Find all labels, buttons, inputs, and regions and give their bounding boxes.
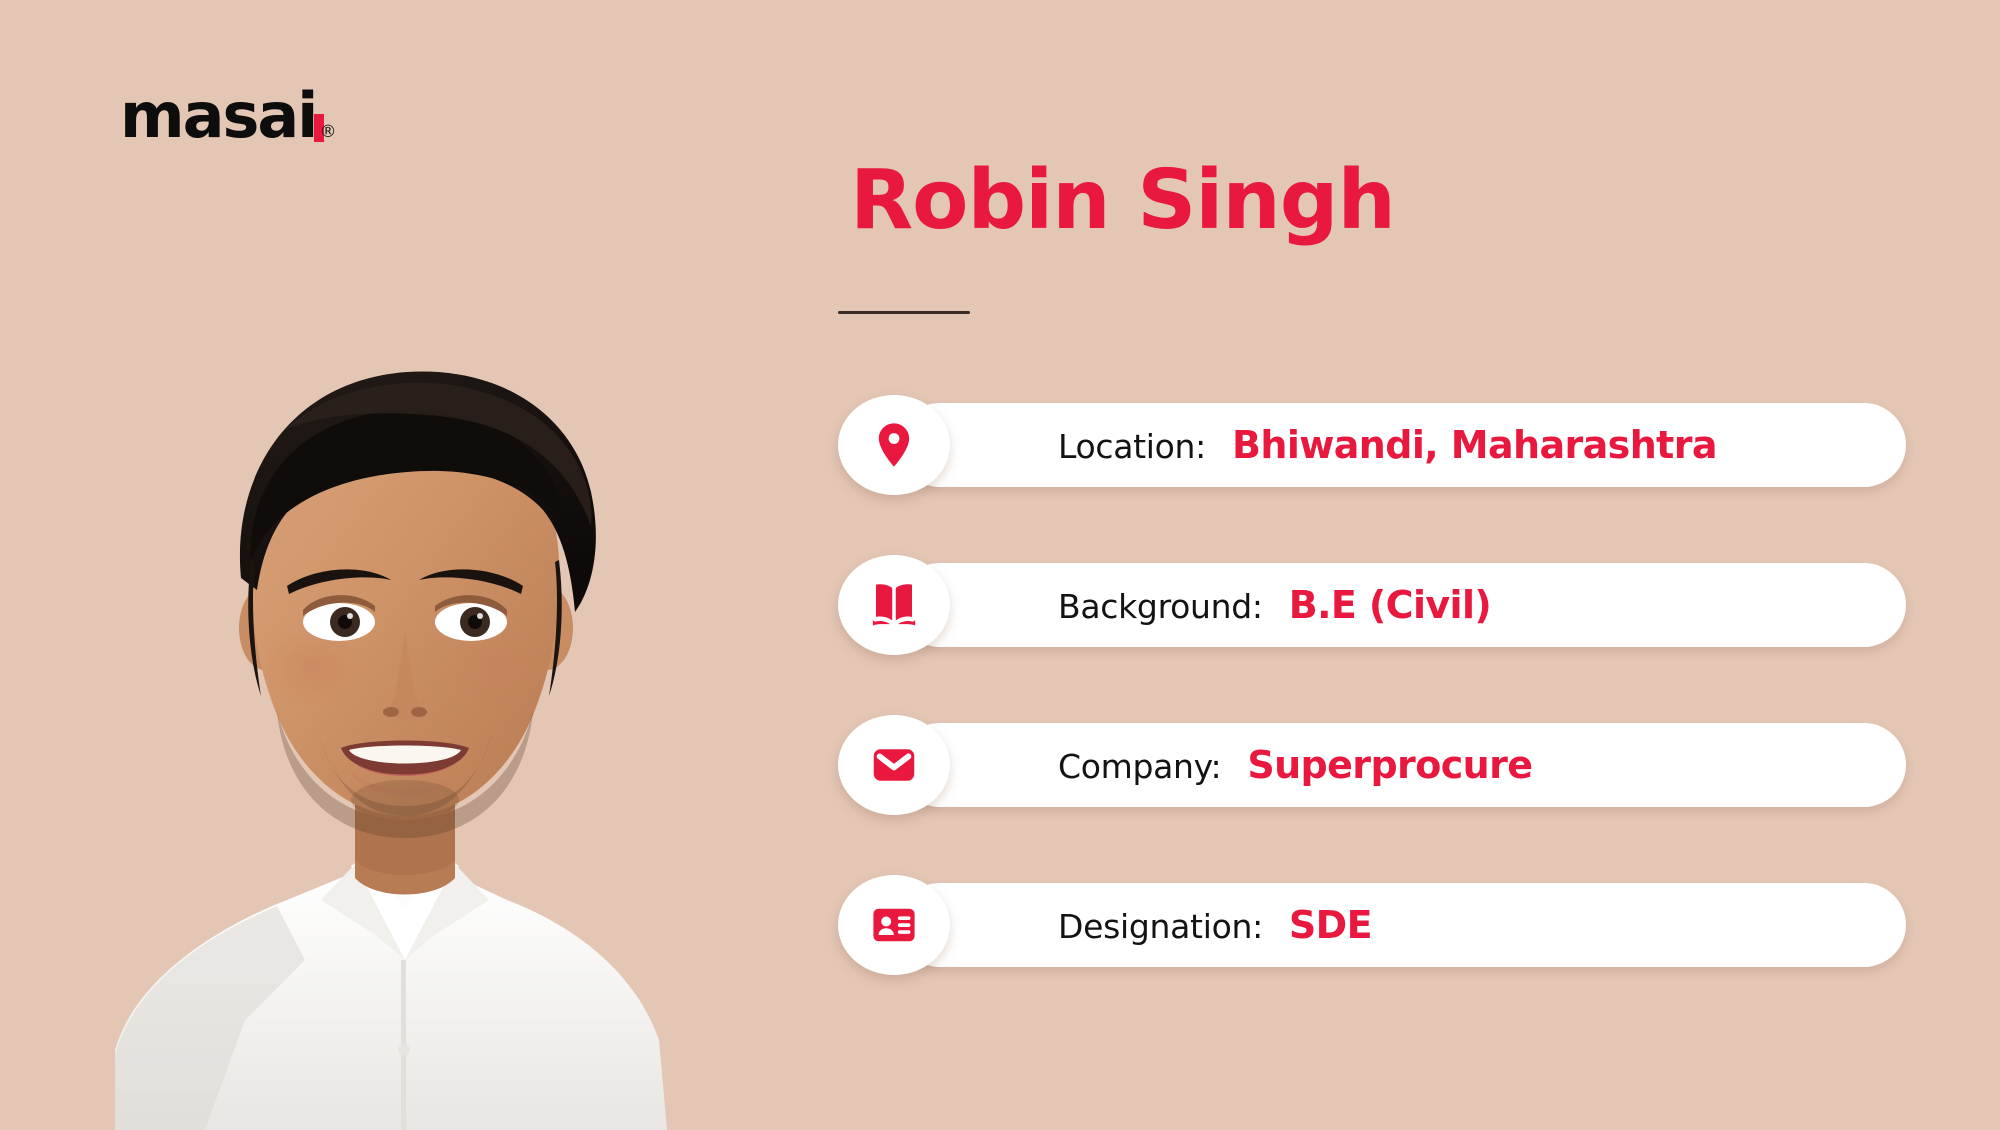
detail-icon-badge-company (838, 715, 950, 815)
detail-icon-badge-background (838, 555, 950, 655)
detail-card-background[interactable]: Background: B.E (Civil) (898, 563, 1906, 647)
open-book-icon (867, 578, 921, 632)
detail-value-background: B.E (Civil) (1289, 583, 1491, 627)
page-title: Robin Singh (850, 160, 1395, 242)
detail-row-designation[interactable]: Designation: SDE (838, 875, 1918, 975)
profile-photo (55, 260, 745, 1130)
detail-row-background[interactable]: Background: B.E (Civil) (838, 555, 1918, 655)
logo-wordmark: masai (120, 88, 316, 144)
profile-detail-panel: Robin Singh Location: Bhiwandi, Maharash… (820, 0, 2000, 1130)
detail-card-list: Location: Bhiwandi, Maharashtra Backgrou… (838, 395, 1918, 1035)
detail-card-location[interactable]: Location: Bhiwandi, Maharashtra (898, 403, 1906, 487)
detail-text-designation: Designation: SDE (1058, 903, 1372, 947)
profile-photo-illustration (55, 260, 745, 1130)
map-pin-icon (868, 419, 920, 471)
id-card-icon (868, 899, 920, 951)
registered-trademark-icon: ® (319, 122, 336, 142)
detail-value-location: Bhiwandi, Maharashtra (1232, 423, 1717, 467)
detail-row-company[interactable]: Company: Superprocure (838, 715, 1918, 815)
detail-text-location: Location: Bhiwandi, Maharashtra (1058, 423, 1717, 467)
detail-card-company[interactable]: Company: Superprocure (898, 723, 1906, 807)
detail-label-company: Company: (1058, 747, 1221, 786)
detail-label-designation: Designation: (1058, 907, 1263, 946)
detail-label-background: Background: (1058, 587, 1263, 626)
title-divider (838, 311, 970, 314)
detail-icon-badge-location (838, 395, 950, 495)
detail-value-designation: SDE (1289, 903, 1372, 947)
detail-text-background: Background: B.E (Civil) (1058, 583, 1491, 627)
envelope-icon (867, 738, 921, 792)
detail-card-designation[interactable]: Designation: SDE (898, 883, 1906, 967)
masai-logo[interactable]: masai ® (120, 88, 336, 144)
detail-row-location[interactable]: Location: Bhiwandi, Maharashtra (838, 395, 1918, 495)
detail-value-company: Superprocure (1247, 743, 1532, 787)
detail-text-company: Company: Superprocure (1058, 743, 1532, 787)
detail-label-location: Location: (1058, 427, 1206, 466)
detail-icon-badge-designation (838, 875, 950, 975)
